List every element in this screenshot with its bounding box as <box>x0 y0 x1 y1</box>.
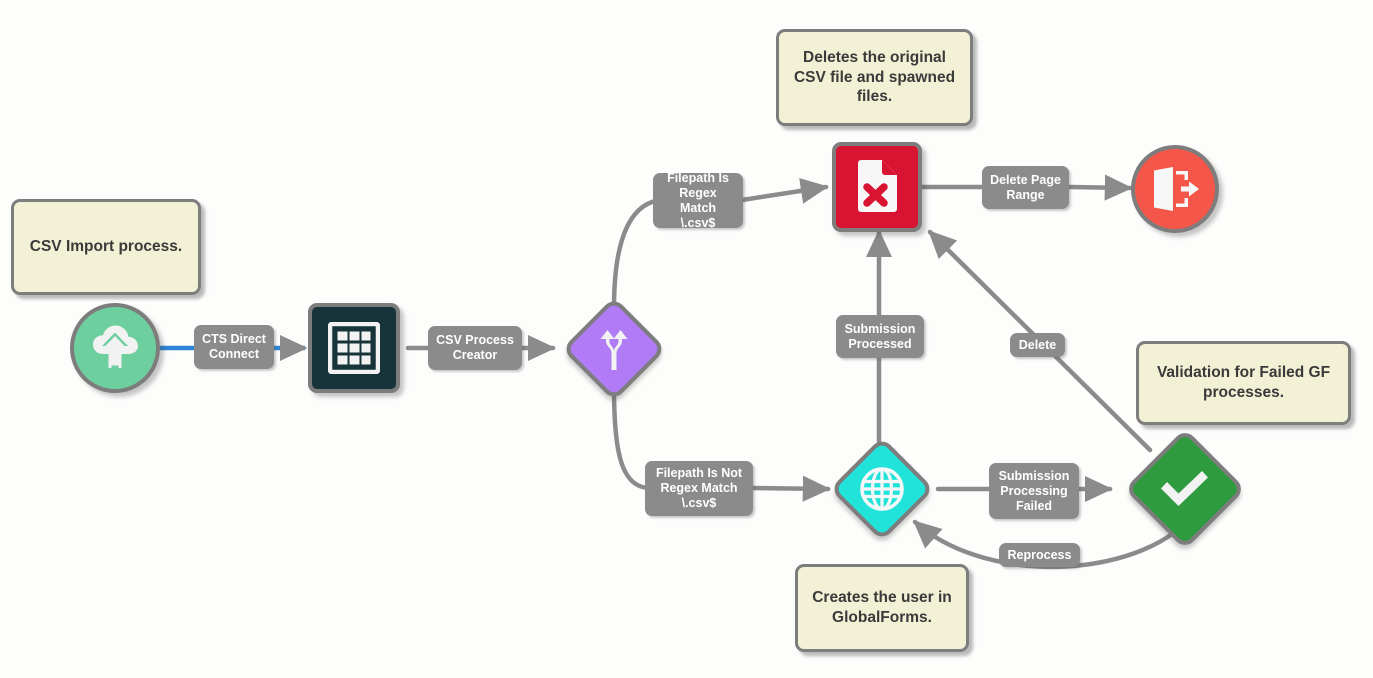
edge-label-csv-process-creator[interactable]: CSV Process Creator <box>428 326 522 370</box>
check-icon <box>1157 466 1213 512</box>
globe-icon <box>858 465 906 513</box>
cloud-upload-icon <box>89 324 141 372</box>
note-text: Creates the user in GlobalForms. <box>808 588 956 628</box>
edge-label-text: CSV Process Creator <box>436 333 514 363</box>
note-text: Deletes the original CSV file and spawne… <box>789 48 960 107</box>
note-creates-user[interactable]: Creates the user in GlobalForms. <box>795 564 969 652</box>
node-spreadsheet[interactable] <box>308 303 400 393</box>
node-validate[interactable] <box>1122 431 1248 547</box>
node-globalforms[interactable] <box>823 443 941 535</box>
note-deletes-original[interactable]: Deletes the original CSV file and spawne… <box>776 29 973 126</box>
branch-fork-icon <box>591 326 637 372</box>
edge-label-text: Reprocess <box>1008 548 1072 563</box>
edge-label-text: Submission Processing Failed <box>999 469 1070 514</box>
edge-label-text: Delete Page Range <box>990 173 1061 203</box>
file-delete-icon <box>851 159 903 215</box>
spreadsheet-icon <box>328 322 380 374</box>
node-exit[interactable] <box>1131 145 1219 233</box>
node-branch[interactable] <box>553 303 675 395</box>
edge-label-reprocess[interactable]: Reprocess <box>999 543 1080 567</box>
note-text: CSV Import process. <box>30 237 182 257</box>
edge-label-filepath-regex-match[interactable]: Filepath Is Regex Match \.csv$ <box>653 173 743 228</box>
note-csv-import[interactable]: CSV Import process. <box>11 199 201 295</box>
edge-label-cts-direct-connect[interactable]: CTS Direct Connect <box>194 325 274 369</box>
edge-label-text: Submission Processed <box>845 322 916 352</box>
edge-label-text: Filepath Is Regex Match \.csv$ <box>660 171 736 231</box>
edge-label-text: CTS Direct Connect <box>202 332 266 362</box>
diagram-canvas[interactable]: CSV Import process. Deletes the original… <box>0 0 1373 678</box>
edge-label-submission-processed[interactable]: Submission Processed <box>836 315 924 358</box>
edge-label-delete-page-range[interactable]: Delete Page Range <box>982 166 1069 209</box>
edge-label-submission-processing-failed[interactable]: Submission Processing Failed <box>989 463 1079 519</box>
edge-label-text: Filepath Is Not Regex Match \.csv$ <box>656 466 742 511</box>
edge-label-delete[interactable]: Delete <box>1010 333 1065 357</box>
note-validation-failed-gf[interactable]: Validation for Failed GF processes. <box>1136 341 1351 425</box>
nodes-layer: CSV Import process. Deletes the original… <box>0 0 1373 678</box>
exit-door-icon <box>1150 165 1200 213</box>
node-start-upload[interactable] <box>70 303 160 393</box>
node-delete-file[interactable] <box>832 142 922 232</box>
edge-label-text: Delete <box>1019 338 1057 353</box>
note-text: Validation for Failed GF processes. <box>1149 363 1338 403</box>
edge-label-filepath-not-regex-match[interactable]: Filepath Is Not Regex Match \.csv$ <box>645 461 753 516</box>
